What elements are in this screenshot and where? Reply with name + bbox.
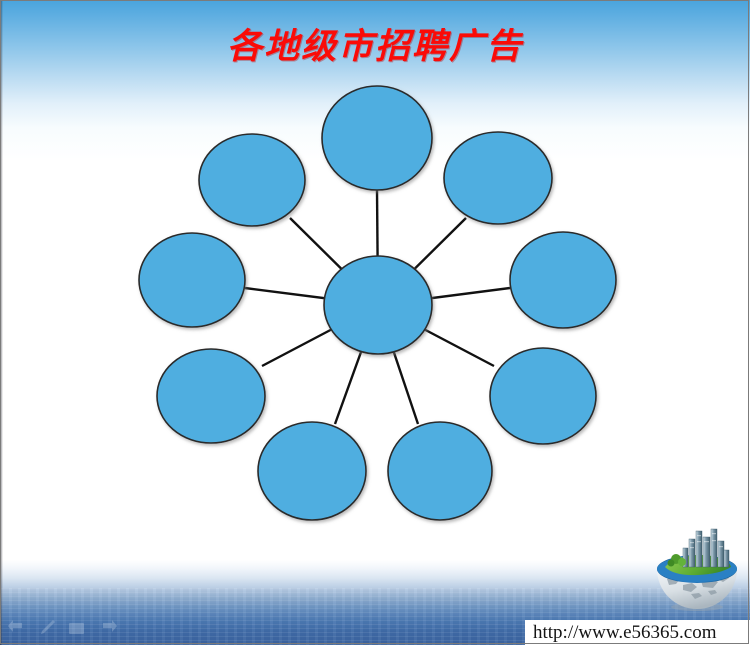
presentation-slide: 各地级市招聘广告 [0,0,750,645]
slide-menu-icon[interactable] [68,621,86,636]
hub-circle[interactable] [324,256,432,354]
previous-arrow-icon[interactable] [8,620,28,636]
diagram-hub-node [324,256,432,354]
next-arrow-icon[interactable] [97,620,117,636]
node-circle-2[interactable] [444,132,552,224]
node-circle-3[interactable] [510,232,616,328]
node-circle-6[interactable] [258,422,366,520]
globe-city-buildings [683,529,729,567]
node-circle-8[interactable] [139,233,245,327]
node-circle-1[interactable] [322,86,432,190]
slideshow-nav-icons[interactable] [8,617,118,639]
node-circle-7[interactable] [157,349,265,443]
radial-diagram [0,0,750,645]
pen-icon[interactable] [39,620,57,636]
node-circle-4[interactable] [490,348,596,444]
globe-city-graphic [645,523,745,613]
node-circle-5[interactable] [388,422,492,520]
node-circle-9[interactable] [199,134,305,226]
watermark-url: http://www.e56365.com [525,620,750,645]
